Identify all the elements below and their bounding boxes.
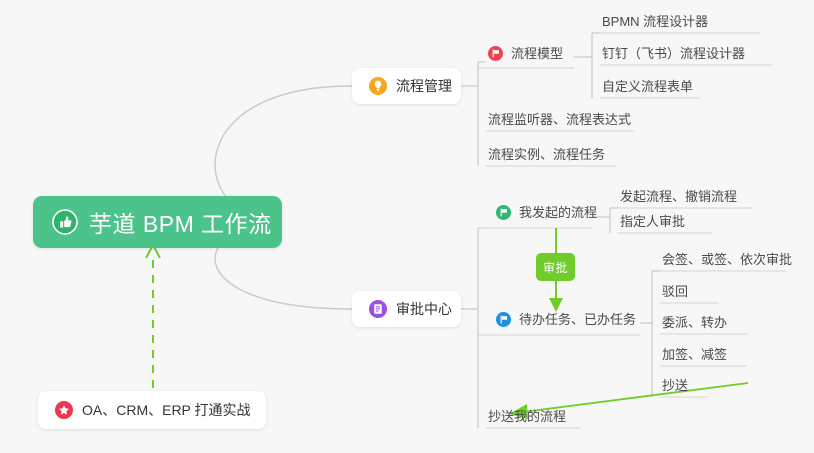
topic-label: 发起流程、撤销流程 <box>620 189 737 204</box>
topic-label: BPMN 流程设计器 <box>602 14 708 29</box>
topic-label: 加签、减签 <box>662 347 727 362</box>
topic-label: 指定人审批 <box>620 214 685 229</box>
topic-label: 我发起的流程 <box>519 205 597 220</box>
topic-custom-form[interactable]: 自定义流程表单 <box>602 79 693 100</box>
note-label: OA、CRM、ERP 打通实战 <box>82 400 251 420</box>
topic-label: 自定义流程表单 <box>602 79 693 94</box>
topic-bpmn-designer[interactable]: BPMN 流程设计器 <box>602 14 708 35</box>
topic-label: 抄送我的流程 <box>488 409 566 424</box>
topic-process-instance[interactable]: 流程实例、流程任务 <box>488 147 605 168</box>
topic-label: 驳回 <box>662 284 688 299</box>
topic-label: 抄送 <box>662 378 688 393</box>
approve-chip-label: 审批 <box>543 259 568 276</box>
approve-annotation-chip[interactable]: 审批 <box>536 253 575 281</box>
topic-assignee-approval[interactable]: 指定人审批 <box>620 214 685 235</box>
green-arrow-approve-head <box>549 298 563 312</box>
topic-add-remove-sign[interactable]: 加签、减签 <box>662 347 727 368</box>
flag-icon <box>488 46 503 61</box>
topic-label: 待办任务、已办任务 <box>519 312 636 327</box>
topic-delegate-transfer[interactable]: 委派、转办 <box>662 315 727 336</box>
topic-label: 流程实例、流程任务 <box>488 147 605 162</box>
topic-label: 委派、转办 <box>662 315 727 330</box>
topic-start-cancel-process[interactable]: 发起流程、撤销流程 <box>620 189 737 210</box>
topic-dingtalk-designer[interactable]: 钉钉（飞书）流程设计器 <box>602 46 745 67</box>
topic-label: 会签、或签、依次审批 <box>662 252 792 267</box>
green-arrow-cc-line <box>523 383 748 412</box>
topic-label: 流程模型 <box>511 46 563 61</box>
flag-icon <box>496 205 511 220</box>
topic-label: 钉钉（飞书）流程设计器 <box>602 46 745 61</box>
topic-cc[interactable]: 抄送 <box>662 378 688 399</box>
topic-cc-to-me[interactable]: 抄送我的流程 <box>488 409 566 430</box>
topic-my-initiated[interactable]: 我发起的流程 <box>496 205 597 226</box>
topic-countersign[interactable]: 会签、或签、依次审批 <box>662 252 792 273</box>
mindmap-canvas: 芋道 BPM 工作流 流程管理 审批中心 <box>0 0 814 453</box>
document-icon <box>369 300 387 318</box>
topic-process-listener[interactable]: 流程监听器、流程表达式 <box>488 112 631 133</box>
note-oa-crm-erp[interactable]: OA、CRM、ERP 打通实战 <box>38 391 266 429</box>
flag-icon <box>496 312 511 327</box>
branch-label: 审批中心 <box>396 299 452 319</box>
root-node[interactable]: 芋道 BPM 工作流 <box>33 196 282 248</box>
thumbs-up-icon <box>52 209 78 235</box>
topic-label: 流程监听器、流程表达式 <box>488 112 631 127</box>
branch-label: 流程管理 <box>396 76 452 96</box>
branch-approval-center[interactable]: 审批中心 <box>352 291 461 327</box>
topic-todo-done-tasks[interactable]: 待办任务、已办任务 <box>496 312 636 333</box>
lightbulb-icon <box>369 77 387 95</box>
root-label: 芋道 BPM 工作流 <box>89 205 272 239</box>
topic-reject[interactable]: 驳回 <box>662 284 688 305</box>
branch-process-management[interactable]: 流程管理 <box>352 68 461 104</box>
topic-process-model[interactable]: 流程模型 <box>488 46 563 67</box>
star-icon <box>55 401 73 419</box>
